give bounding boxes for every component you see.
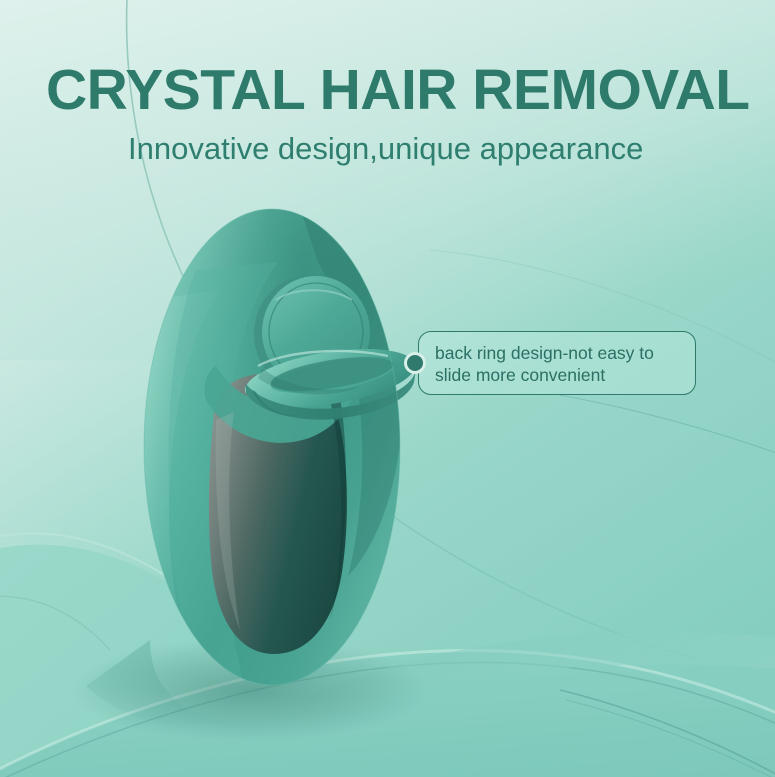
product-banner: CRYSTAL HAIR REMOVAL Innovative design,u… (0, 0, 775, 777)
callout-anchor-dot-icon[interactable] (404, 352, 426, 374)
feature-callout-box[interactable]: back ring design-not easy to slide more … (418, 331, 696, 395)
feature-callout-text: back ring design-not easy to slide more … (435, 342, 687, 386)
